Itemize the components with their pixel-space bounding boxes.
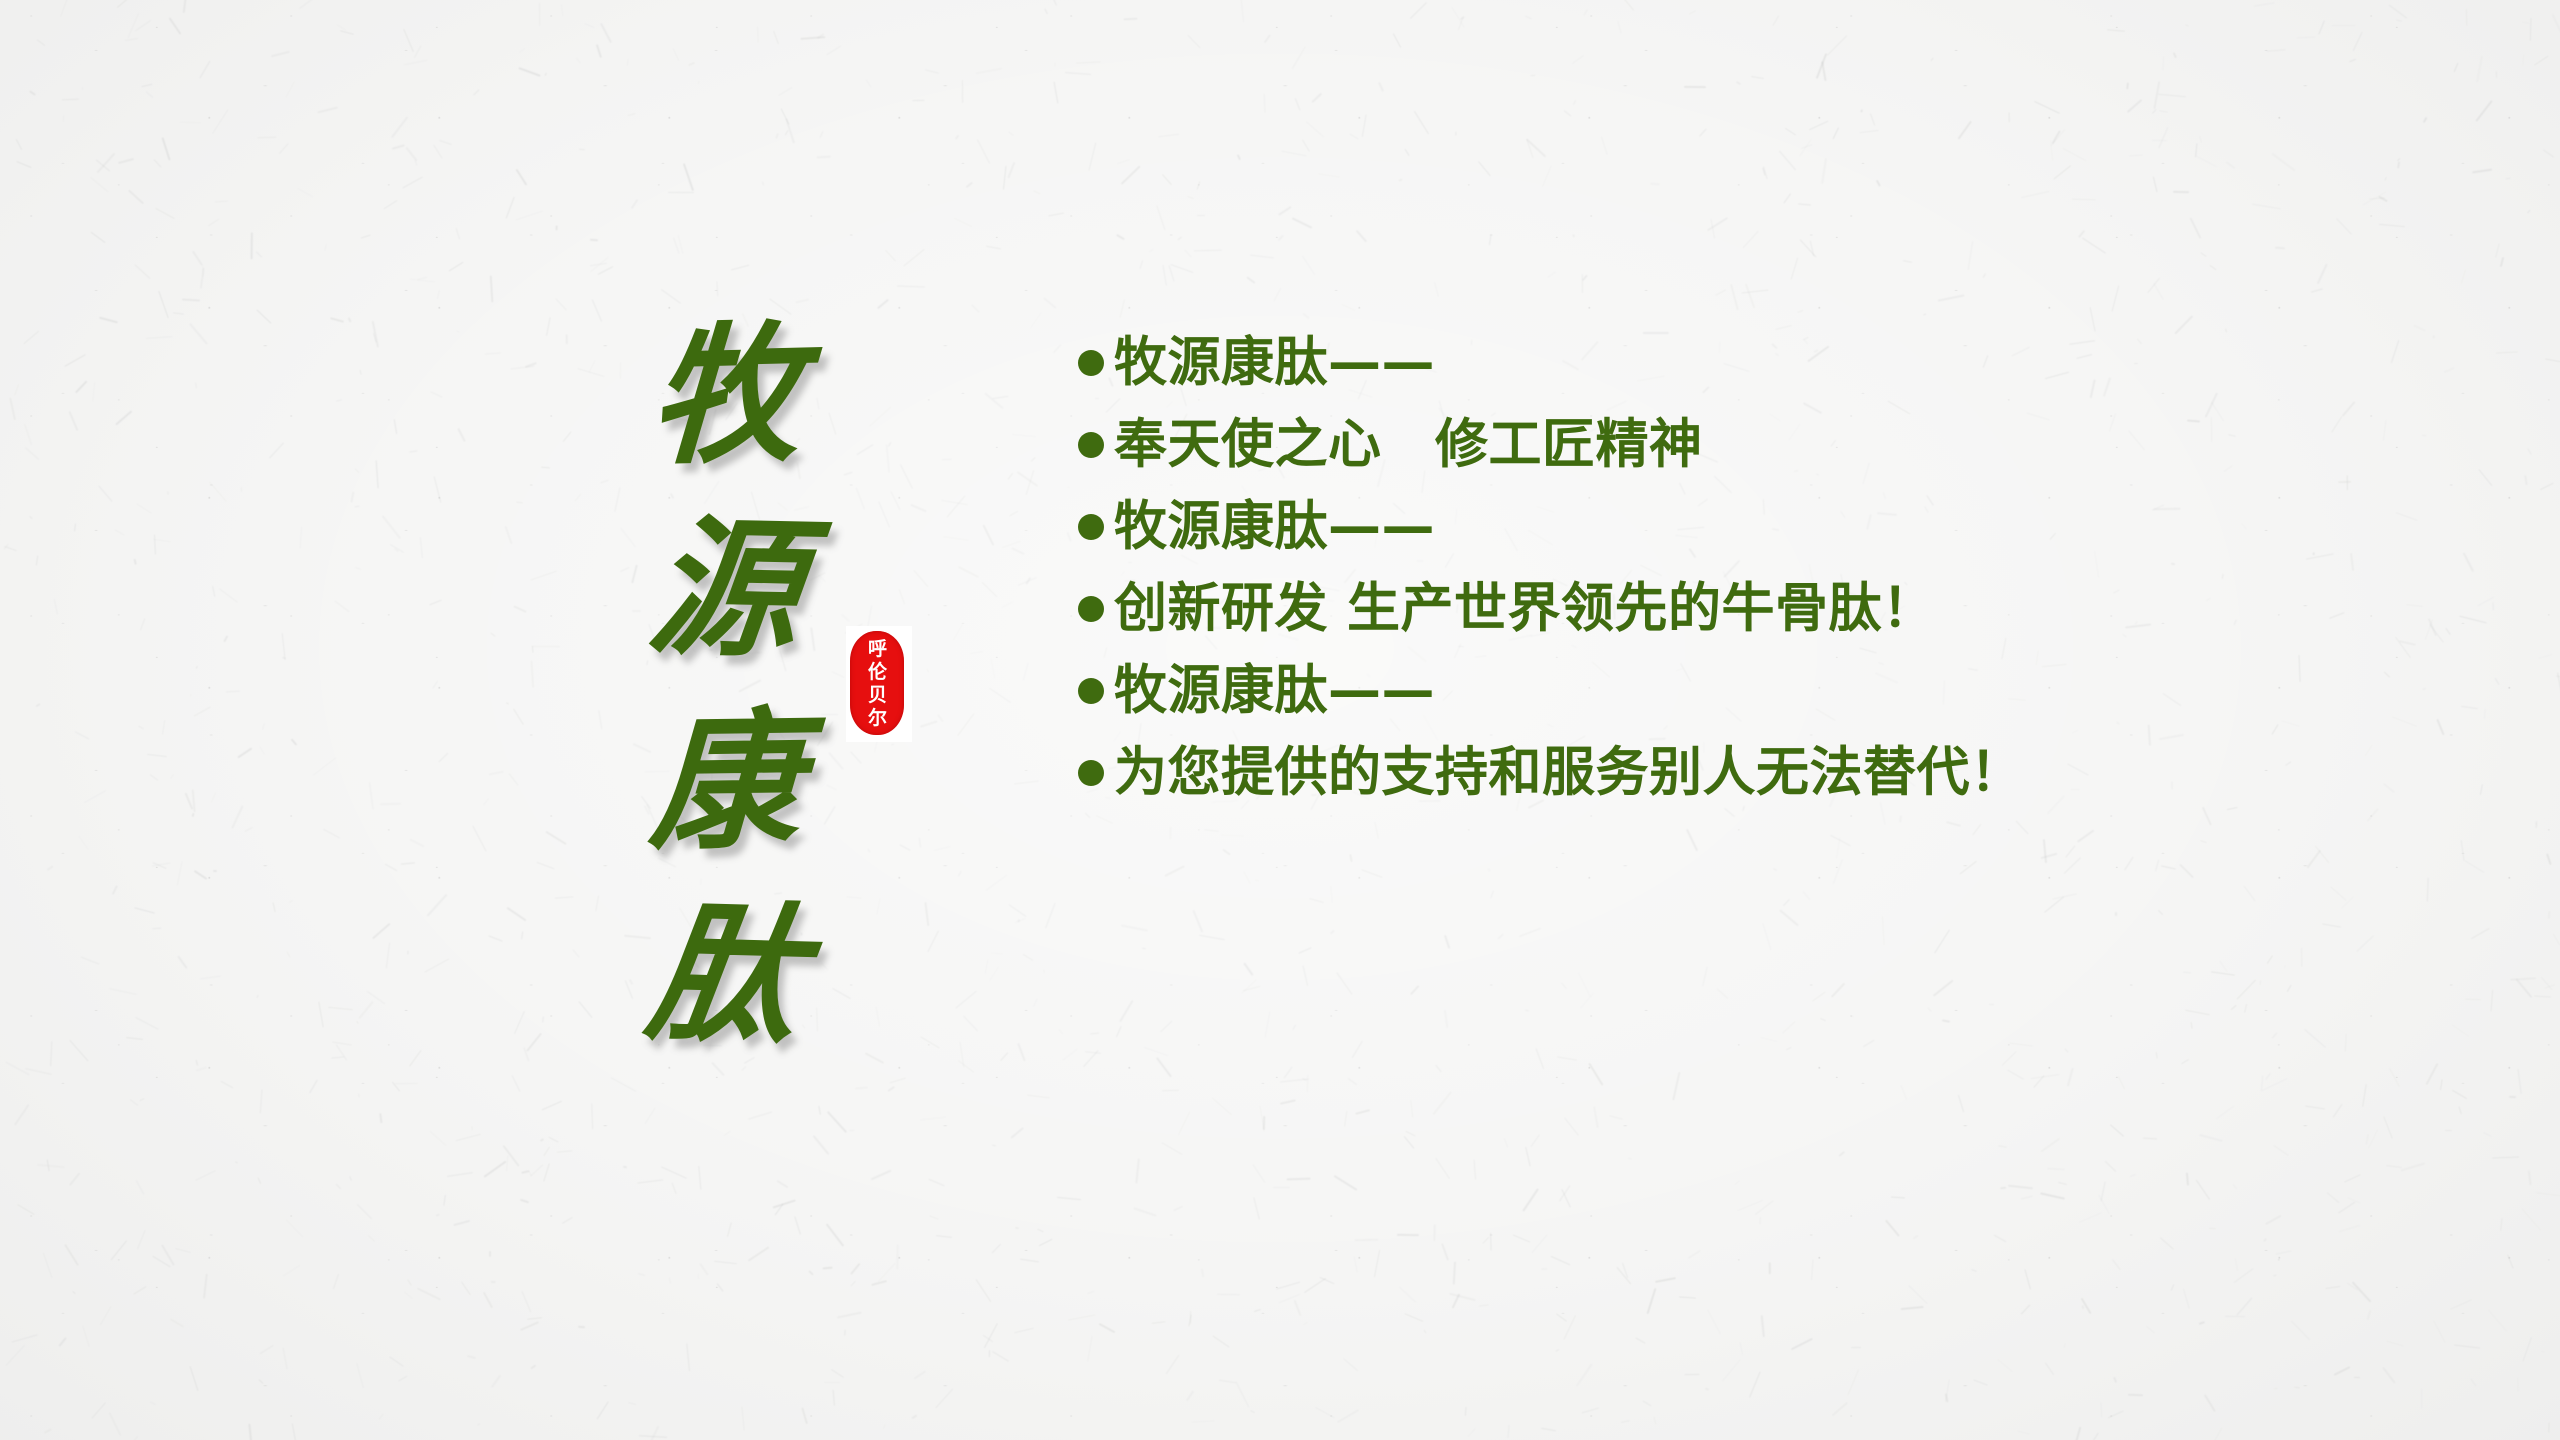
red-seal-stamp: 呼 伦 贝 尔 bbox=[846, 626, 912, 742]
bullet-dot-icon bbox=[1078, 350, 1104, 376]
slogan-bullet-list: 牧源康肽—— 奉天使之心 修工匠精神 牧源康肽—— 创新研发 生产世界领先的牛骨… bbox=[1078, 322, 2024, 814]
bullet-item: 创新研发 生产世界领先的牛骨肽！ bbox=[1078, 568, 2024, 650]
bullet-item: 牧源康肽—— bbox=[1078, 322, 2024, 404]
slide-canvas: 牧 源 康 肽 呼 伦 贝 尔 牧源康肽—— 奉天使之心 修工匠精神 牧源康肽—… bbox=[0, 0, 2560, 1440]
seal-char-3: 贝 bbox=[868, 684, 886, 707]
bullet-item: 牧源康肽—— bbox=[1078, 486, 2024, 568]
seal-char-1: 呼 bbox=[868, 638, 886, 661]
bullet-label: 牧源康肽—— bbox=[1114, 498, 1435, 556]
bullet-label: 牧源康肽—— bbox=[1114, 662, 1435, 720]
brand-char-4: 肽 bbox=[637, 877, 812, 1074]
bullet-dot-icon bbox=[1078, 432, 1104, 458]
seal-char-4: 尔 bbox=[868, 707, 886, 730]
bullet-item: 为您提供的支持和服务别人无法替代！ bbox=[1078, 732, 2024, 814]
bullet-dot-icon bbox=[1078, 514, 1104, 540]
seal-body: 呼 伦 贝 尔 bbox=[850, 631, 904, 735]
brand-char-3: 康 bbox=[646, 685, 804, 880]
brand-char-2: 源 bbox=[640, 491, 811, 687]
bullet-item: 奉天使之心 修工匠精神 bbox=[1078, 404, 2024, 486]
bullet-dot-icon bbox=[1078, 678, 1104, 704]
brand-calligraphy-vertical: 牧 源 康 肽 bbox=[640, 300, 810, 1072]
bullet-dot-icon bbox=[1078, 760, 1104, 786]
bullet-label: 牧源康肽—— bbox=[1114, 334, 1435, 392]
bullet-label: 创新研发 生产世界领先的牛骨肽！ bbox=[1114, 580, 1935, 638]
seal-char-2: 伦 bbox=[868, 661, 886, 684]
bullet-label: 为您提供的支持和服务别人无法替代！ bbox=[1114, 744, 2024, 802]
bullet-item: 牧源康肽—— bbox=[1078, 650, 2024, 732]
brand-char-1: 牧 bbox=[645, 298, 804, 495]
bullet-label: 奉天使之心 修工匠精神 bbox=[1114, 416, 1703, 474]
bullet-dot-icon bbox=[1078, 596, 1104, 622]
